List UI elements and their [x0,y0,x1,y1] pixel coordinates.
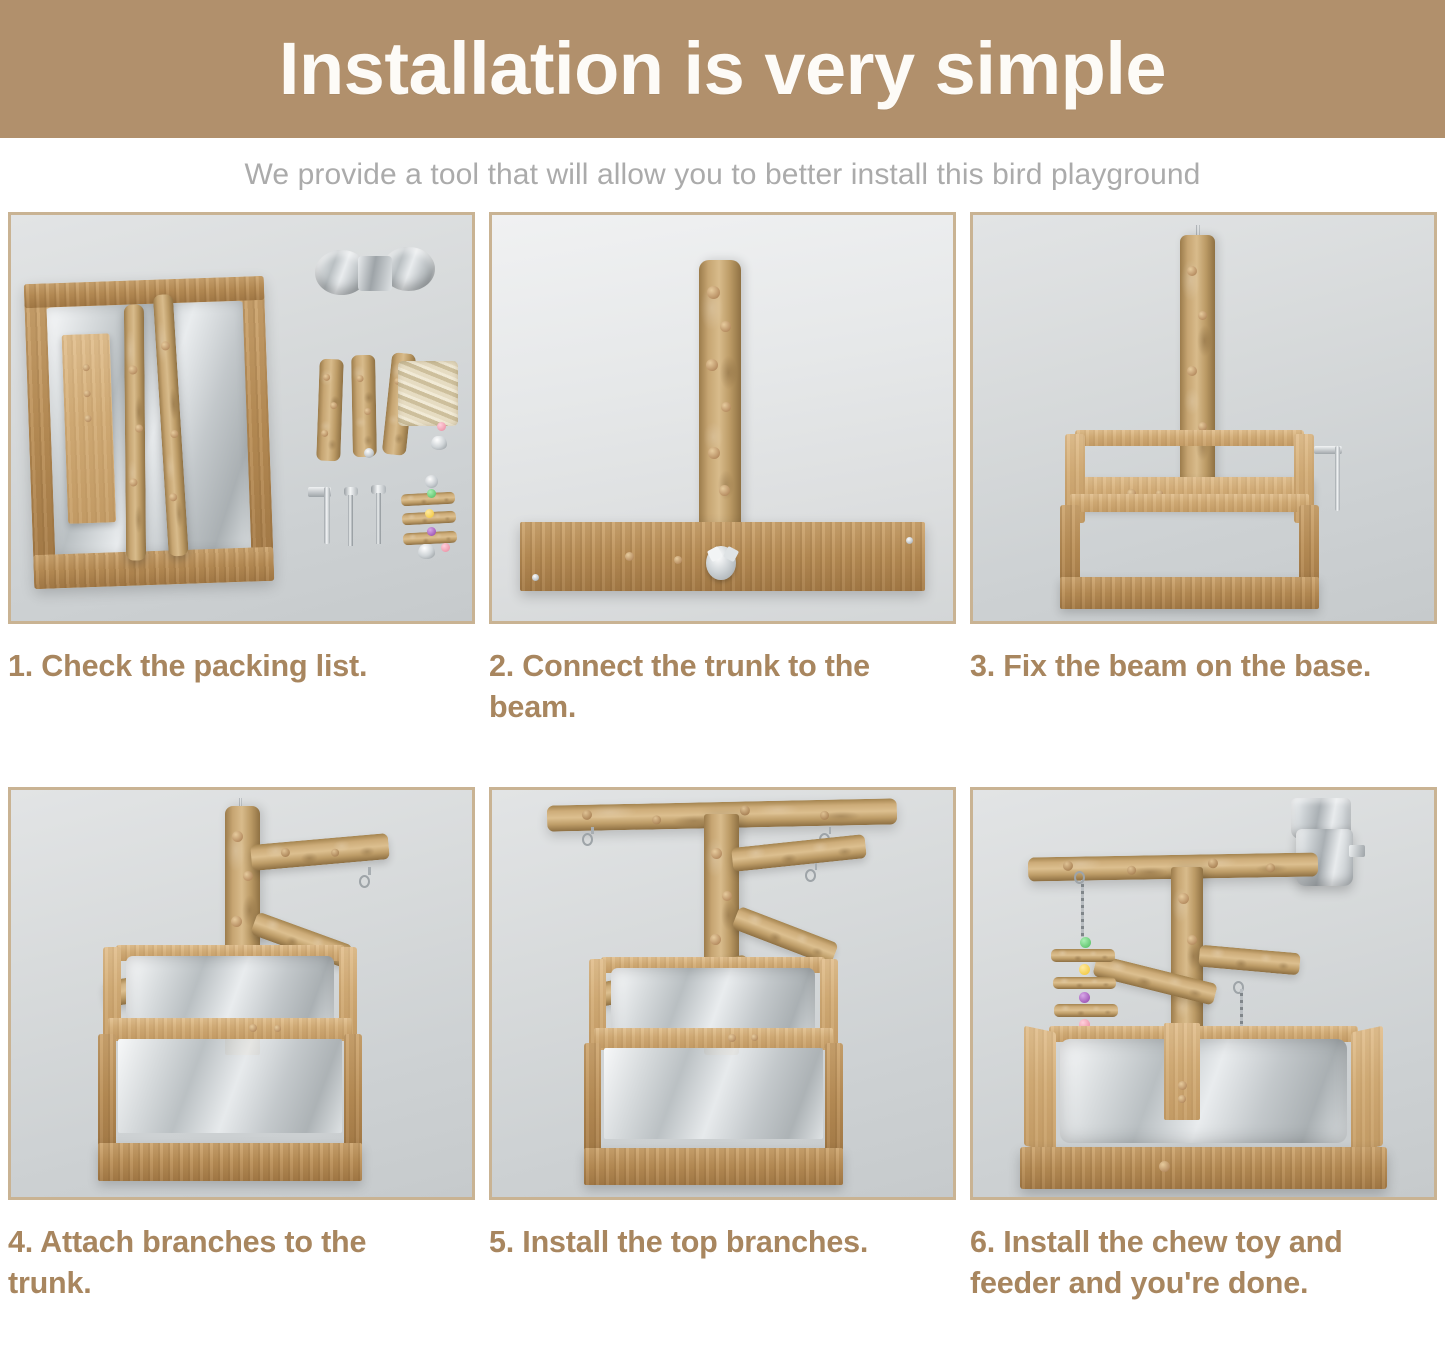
wooden-base-frame [1065,430,1314,609]
long-branch-1 [124,305,147,561]
loofah-chew-toy [398,361,458,426]
bolt-1 [341,487,362,546]
trunk-knob [232,831,243,842]
trunk-knob [231,916,242,927]
header-band: Installation is very simple [0,0,1445,138]
trunk-knob [721,402,731,412]
step-1-cell [8,212,475,624]
trunk-knob [708,447,720,459]
subtitle-bar: We provide a tool that will allow you to… [0,138,1445,212]
captions-row-top: 1. Check the packing list. 2. Connect th… [0,624,1445,787]
beam-screw-left [532,574,539,581]
shelf-screw [751,1034,758,1041]
wooden-base-frame [589,957,838,1185]
trunk-knob [1198,311,1207,320]
wooden-tray-frame [24,276,274,589]
beam-screw-hole-3 [85,415,92,422]
allen-key-long-arm [324,487,330,544]
step-3-photo [970,212,1437,624]
branch-knob [135,425,143,433]
allen-key [308,487,331,544]
ladder-bell [418,544,435,559]
stick-knob [330,402,337,409]
step-2-photo [489,212,956,624]
stick-knob [364,408,371,415]
branch-knob [1127,866,1136,875]
beaded-ladder-toy [398,475,463,564]
eye-screw-stem [368,867,371,875]
perch-stick-1 [316,359,343,461]
bolt-shaft [376,493,381,544]
step-4-photo [8,787,475,1200]
tray-lower-panel [118,1039,341,1133]
ladder-bead-green [427,489,436,498]
branch-knob [1063,861,1073,871]
step-5-caption: 5. Install the top branches. [489,1222,956,1316]
stick-knob [321,430,328,437]
base-shelf [594,1028,833,1049]
branch-knob [331,848,340,857]
branch-knob [740,806,750,816]
base-rail-left-lower [98,1034,116,1157]
beam-screw-hole-1 [83,364,90,371]
shelf-screw [249,1024,257,1032]
trunk-knob [719,485,730,496]
ladder-bead-pink [441,543,450,552]
branch-knob [821,811,830,820]
branch-knob [1208,858,1218,868]
chew-toy-bell [431,436,447,450]
eye-screw-stem [829,827,832,834]
twin-feeder-cups [315,243,435,300]
ladder-bead-purple [427,527,436,536]
shelf-screw [728,1034,736,1042]
eye-screw-stem [815,863,818,870]
bolt-2 [368,485,389,544]
branch-knob [130,479,138,487]
step-6-photo [970,787,1437,1200]
ladder-rung-3 [1054,1004,1118,1017]
eye-screw-left [582,833,593,846]
branch-knob [129,366,138,375]
trunk-knob [722,891,732,901]
base-rail-right-lower [344,1034,362,1157]
captions-row-bottom: 4. Attach branches to the trunk. 5. Inst… [0,1200,1445,1316]
step-1-photo [8,212,475,624]
allen-key-long-arm [1335,446,1340,511]
base-rail-right-lower [825,1043,842,1162]
step-2-caption: 2. Connect the trunk to the beam. [489,646,956,787]
trunk-knob [720,321,731,332]
base-rail-right [1351,1026,1383,1153]
wooden-beam-part [62,333,116,523]
wooden-base-frame [1024,1026,1384,1189]
trunk-knob [1187,266,1197,276]
beam-knot [674,556,682,564]
trunk-knob [1187,935,1197,945]
ladder-bead-purple [1079,992,1090,1003]
base-rail-left-lower [584,1043,601,1162]
branch-knob [1266,863,1275,872]
ladder-toy-clip [425,475,438,488]
trunk-knob [707,286,720,299]
step-4-cell [8,787,475,1200]
base-rail-front [1060,577,1319,609]
ladder-rung-2 [1053,977,1117,990]
step-5-photo [489,787,956,1200]
step-5-cell [489,787,956,1200]
base-rail-front [1020,1147,1387,1189]
beam-screw-right [906,537,913,544]
stainless-steel-tray [1060,1039,1348,1143]
page-subtitle: We provide a tool that will allow you to… [245,158,1201,192]
mount-screw [1178,1081,1187,1090]
trunk-knob [711,848,722,859]
vertical-trunk [699,260,740,528]
trunk-knob [1178,893,1189,904]
stick-knob [356,375,363,382]
trunk-mount-block [1164,1023,1200,1121]
ladder-bead-green [1080,937,1091,948]
trunk-knob [706,359,718,371]
branch-knob [161,341,171,351]
branch-knob [169,493,177,501]
ladder-rung-1 [1051,949,1115,962]
trunk-knob [1187,366,1197,376]
step-6-cell [970,787,1437,1200]
feeder-cup-clamp [1349,845,1365,857]
base-rail-back [1075,430,1304,446]
mount-screw [1178,1095,1186,1103]
ladder-bead-yellow [1079,964,1090,975]
base-rail-front [584,1148,843,1184]
step-3-caption: 3. Fix the beam on the base. [970,646,1437,787]
trunk-knob [710,934,721,945]
eye-screw-stem [591,827,594,834]
branch-knob [171,430,179,438]
beam-screw-hole-2 [84,390,91,397]
cup-bracket [358,256,392,291]
tray-lower-panel [604,1048,823,1139]
installation-steps-grid: 1. Check the packing list. 2. Connect th… [0,212,1445,1316]
trunk-knob [243,871,253,881]
branch-knob [652,815,661,824]
allen-key [1314,446,1342,511]
beam-knot [625,552,634,561]
page-title: Installation is very simple [279,32,1166,106]
steps-row-top [0,212,1445,624]
front-rail-knot [1159,1161,1170,1172]
step-6-caption: 6. Install the chew toy and feeder and y… [970,1222,1437,1316]
step-3-cell [970,212,1437,624]
branch-knob [582,810,592,820]
bolt-shaft [348,495,353,546]
base-shelf [108,1018,351,1039]
stick-knob [323,374,330,381]
ladder-toy-chain [1081,880,1084,937]
base-shelf [1070,494,1309,512]
perch-stick-2 [351,355,377,457]
shelf-screw [274,1025,281,1032]
wooden-base-frame [103,945,357,1181]
branch-knob [281,847,291,857]
base-rail-front [98,1143,362,1181]
step-2-cell [489,212,956,624]
step-4-caption: 4. Attach branches to the trunk. [8,1222,475,1316]
steps-row-bottom [0,787,1445,1200]
base-rail-left [1024,1026,1056,1153]
step-1-caption: 1. Check the packing list. [8,646,475,787]
